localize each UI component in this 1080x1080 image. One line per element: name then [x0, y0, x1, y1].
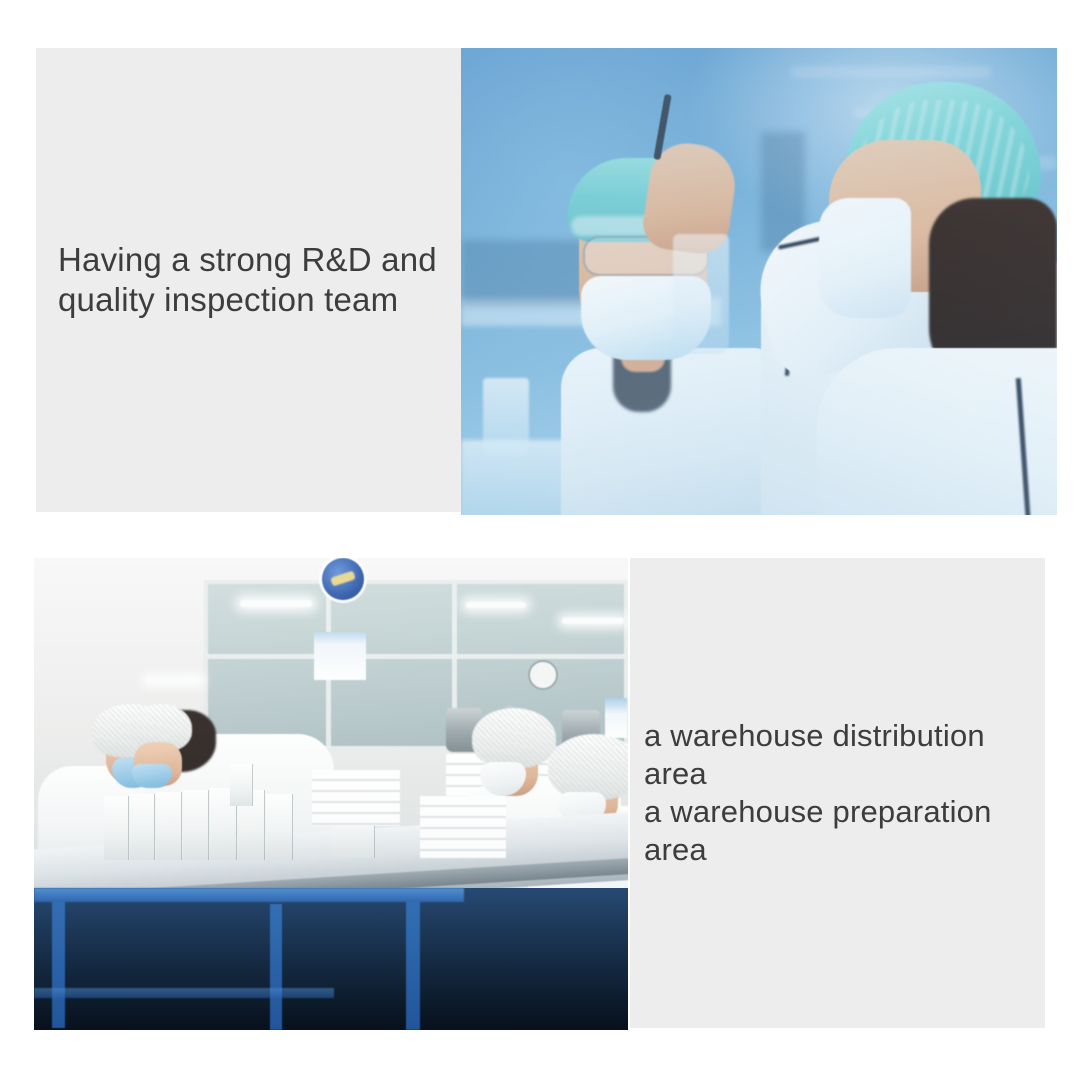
warehouse-packaging-photo [34, 558, 628, 1030]
table-frame-rail [34, 888, 464, 902]
lab-beaker [483, 378, 529, 456]
technician-c-face-mask [819, 198, 911, 318]
carton-on-table [130, 794, 154, 860]
worker-3-hairnet [472, 708, 556, 768]
worker-4-hairnet [548, 734, 628, 800]
table-leg-3 [406, 894, 420, 1030]
table-underside-shadow [34, 888, 628, 1030]
table-leg-1 [52, 896, 65, 1028]
blue-circular-sign-icon [322, 558, 364, 600]
table-leg-2 [270, 904, 282, 1030]
lab-flask [673, 234, 729, 354]
carton-on-table [183, 790, 208, 860]
carton-on-table [104, 796, 128, 860]
bottom-caption-text: a warehouse distribution area a warehous… [644, 717, 1045, 868]
window-rail [206, 654, 626, 659]
carton-on-table [156, 792, 181, 860]
ceiling-light-4 [146, 678, 200, 683]
wall-notice-small [605, 698, 627, 738]
lab-quality-inspection-photo [461, 48, 1057, 515]
bottom-caption-panel: a warehouse distribution area a warehous… [630, 558, 1045, 1028]
carton-stack-right [420, 796, 506, 858]
carton-stack-center [312, 770, 400, 826]
lab-shelf-top [791, 66, 991, 78]
wall-clock-icon [528, 660, 558, 690]
ceiling-light-2 [466, 602, 526, 608]
ceiling-light-1 [240, 600, 312, 607]
poster-page: Having a strong R&D and quality inspecti… [0, 0, 1080, 1080]
ceiling-light-3 [562, 618, 624, 624]
top-caption-panel: Having a strong R&D and quality inspecti… [36, 48, 464, 512]
carton-on-table [266, 794, 292, 860]
wall-notice-board [314, 632, 366, 680]
carton-upright [230, 764, 252, 806]
worker-2-face-mask [132, 764, 172, 788]
top-caption-text: Having a strong R&D and quality inspecti… [58, 240, 437, 321]
table-lower-rail [34, 988, 334, 998]
